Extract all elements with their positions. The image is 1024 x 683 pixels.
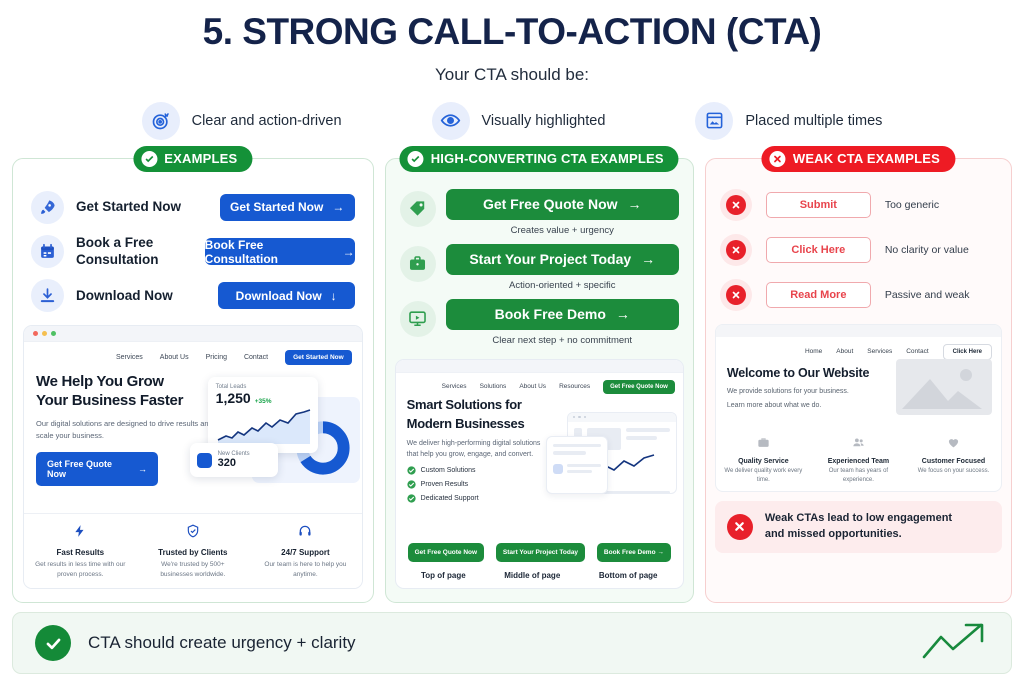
download-icon [31,279,64,312]
trend-up-arrow-icon [921,621,989,666]
briefcase-icon [400,246,436,282]
example-row: Download Now Download Now ↓ [31,279,355,312]
check-circle-icon [407,480,416,489]
shield-check-icon [186,524,200,538]
footer-banner: CTA should create urgency + clarity [12,612,1012,674]
mockup-nav-cta-button[interactable]: Click Here [943,344,992,360]
feature-desc: We're trusted by 500+ businesses worldwi… [137,560,250,580]
monitor-play-icon [400,301,436,337]
feature-title: Quality Service [716,458,811,465]
button-label: Book Free Demo [495,306,606,322]
mockup-nav: Home About Services Contact Click Here [716,337,1001,360]
check-circle-icon [407,466,416,475]
check-circle-icon [408,151,424,167]
nav-item[interactable]: Resources [559,383,590,390]
examples-panel-tag: EXAMPLES [133,146,252,172]
examples-rows: Get Started Now Get Started Now → Book a… [13,159,373,313]
placement-button-top[interactable]: Get Free Quote Now [408,543,484,562]
weak-cta-rows: Submit Too generic Click Here No clarity… [706,159,1011,311]
example-row: Book a Free Consultation Book Free Consu… [31,235,355,269]
tag-icon [400,191,436,227]
example-row: Get Started Now Get Started Now → [31,191,355,224]
check-circle-icon [35,625,71,661]
placeholder-image-icon [896,359,992,415]
check-circle-icon [407,494,416,503]
mockup-heading-line1: We Help You Grow [36,373,221,392]
high-converting-rows: Get Free Quote Now → Creates value + urg… [386,159,693,351]
arrow-right-icon: → [641,251,655,267]
arrow-right-icon: → [343,245,355,259]
placement-button-middle[interactable]: Start Your Project Today [496,543,585,562]
window-close-dot [33,331,38,336]
feature-title: 24/7 Support [249,548,362,557]
mockup-new-clients-card: New Clients 320 [190,443,278,477]
briefcase-gray-icon [757,436,770,449]
cta-caption: Creates value + urgency [446,225,679,236]
mockup-heading-line2: Your Business Faster [36,392,221,411]
mockup-placement-buttons: Get Free Quote Now Start Your Project To… [396,543,683,562]
mockup-feature: Experienced Team Our team has years of e… [811,436,906,486]
button-label: Start Your Project Today [469,251,631,267]
warning-line1: Weak CTAs lead to low engagement [765,511,952,526]
placement-label: Top of page [421,571,466,580]
download-now-button[interactable]: Download Now ↓ [218,282,355,309]
headset-icon [298,524,312,538]
x-circle-icon [720,189,752,221]
button-label: Get Started Now [230,200,323,214]
mockup-feature: Trusted by Clients We're trusted by 500+… [137,524,250,580]
placement-label: Bottom of page [599,571,658,580]
heart-gray-icon [947,436,960,449]
cta-row: Start Your Project Today → Action-orient… [400,244,679,296]
nav-item[interactable]: Pricing [206,354,227,361]
feature-title: Customer Focused [906,458,1001,465]
x-circle-icon [727,514,753,540]
weak-cta-row: Submit Too generic [720,189,997,221]
mockup-feature: Customer Focused We focus on your succes… [906,436,1001,486]
x-circle-icon [770,151,786,167]
cta-caption: Clear next step + no commitment [446,335,679,346]
weak-cta-row: Read More Passive and weak [720,279,997,311]
mockup-feature: 24/7 Support Our team is here to help yo… [249,524,362,580]
mockup-stats-visual: Total Leads 1,250 +35% New C [208,371,358,491]
window-dot [578,416,581,419]
rocket-icon [31,191,64,224]
cta-row: Get Free Quote Now → Creates value + urg… [400,189,679,241]
feature-title: Fast Results [24,548,137,557]
check-circle-icon [141,151,157,167]
feature-title: Trusted by Clients [137,548,250,557]
button-label: Get Free Quote Now [483,196,618,212]
example-label: Book a Free Consultation [76,235,201,269]
mockup-total-leads-card: Total Leads 1,250 +35% [208,377,318,453]
users-gray-icon [852,436,865,449]
mockup-nav-cta-button[interactable]: Get Started Now [285,350,352,365]
attribute-item-placed: Placed multiple times [695,102,882,140]
feature-desc: Our team has years of experience. [811,467,906,486]
placement-button-bottom[interactable]: Book Free Demo → [597,543,671,562]
tag-label: WEAK CTA EXAMPLES [793,151,940,166]
nav-item[interactable]: About [836,348,853,355]
calendar-icon [31,235,64,268]
nav-item[interactable]: Services [116,354,143,361]
nav-item[interactable]: Services [442,383,467,390]
book-free-demo-button[interactable]: Book Free Demo → [446,299,679,330]
cta-caption: Action-oriented + specific [446,280,679,291]
window-dot [573,416,576,419]
nav-item[interactable]: Services [867,348,892,355]
high-converting-panel: HIGH-CONVERTING CTA EXAMPLES Get Free Qu… [385,158,694,603]
nav-item[interactable]: Home [805,348,822,355]
check-label: Custom Solutions [421,467,476,474]
arrow-right-icon: → [616,306,630,322]
arrow-right-icon: → [138,464,147,474]
weak-cta-panel: WEAK CTA EXAMPLES Submit Too generic Cli… [705,158,1012,603]
page-subtitle: Your CTA should be: [0,65,1024,85]
nav-item[interactable]: Contact [244,354,268,361]
x-circle-icon [720,279,752,311]
nav-item[interactable]: Contact [906,348,928,355]
mockup-features: Fast Results Get results in less time wi… [24,513,362,589]
cta-attributes-row: Clear and action-driven Visually highlig… [0,102,1024,140]
mockup-nav: Services Solutions About Us Resources Ge… [396,373,683,394]
weak-cta-note: No clarity or value [885,244,969,256]
read-more-button[interactable]: Read More [766,282,871,308]
mockup-titlebar [396,360,683,373]
mockup-nav-cta-button[interactable]: Get Free Quote Now [603,380,675,394]
cta-row: Book Free Demo → Clear next step + no co… [400,299,679,351]
stat-value: 1,250 [216,390,251,406]
example-label: Get Started Now [76,199,201,216]
attribute-label: Visually highlighted [482,113,606,129]
attribute-item-clear: Clear and action-driven [142,102,342,140]
weak-cta-note: Passive and weak [885,289,970,301]
click-here-button[interactable]: Click Here [766,237,871,263]
mockup-titlebar [716,325,1001,337]
mockup-nav: Services About Us Pricing Contact Get St… [24,342,362,369]
stat-change: +35% [255,398,272,405]
panels-container: EXAMPLES Get Started Now Get Started Now… [0,158,1024,603]
examples-panel: EXAMPLES Get Started Now Get Started Now… [12,158,374,603]
arrow-right-icon: → [332,200,344,214]
website-mockup-converting: Services Solutions About Us Resources Ge… [395,359,684,589]
attribute-label: Placed multiple times [745,113,882,129]
mockup-hero: We Help You Grow Your Business Faster Ou… [24,369,362,486]
high-converting-panel-tag: HIGH-CONVERTING CTA EXAMPLES [400,146,679,172]
get-started-now-button[interactable]: Get Started Now → [220,194,355,221]
tag-label: EXAMPLES [164,151,237,166]
feature-desc: We deliver quality work every time. [716,467,811,486]
check-label: Proven Results [421,481,468,488]
submit-button[interactable]: Submit [766,192,871,218]
book-free-consultation-button[interactable]: Book Free Consultation → [205,238,355,265]
feature-desc: Get results in less time with our proven… [24,560,137,580]
nav-item[interactable]: About Us [519,383,546,390]
weak-cta-warning-box: Weak CTAs lead to low engagement and mis… [715,501,1002,553]
tag-label: HIGH-CONVERTING CTA EXAMPLES [431,151,664,166]
feature-desc: Our team is here to help you anytime. [249,560,362,580]
stat-value: 320 [218,457,250,469]
mockup-dashboard-visual [552,406,677,506]
page-title: 5. STRONG CALL-TO-ACTION (CTA) [0,0,1024,53]
mockup-paragraph: We deliver high-performing digital solut… [396,438,546,460]
eye-icon [432,102,470,140]
user-icon [197,453,212,468]
nav-item[interactable]: Solutions [480,383,507,390]
window-dot [584,416,587,419]
button-label: Book Free Consultation [205,238,334,266]
mockup-placement-labels: Top of page Middle of page Bottom of pag… [396,571,683,580]
button-label: Get Free Quote Now [47,459,130,479]
warning-line2: and missed opportunities. [765,527,952,542]
mockup-titlebar [24,326,362,342]
arrow-right-icon: → [628,196,642,212]
website-mockup-good: Services About Us Pricing Contact Get St… [23,325,363,589]
placement-label: Middle of page [504,571,560,580]
mockup-features: Quality Service We deliver quality work … [716,436,1001,486]
weak-cta-panel-tag: WEAK CTA EXAMPLES [762,146,955,172]
mockup-feature: Fast Results Get results in less time wi… [24,524,137,580]
target-icon [142,102,180,140]
example-label: Download Now [76,288,201,305]
mockup-feature: Quality Service We deliver quality work … [716,436,811,486]
feature-desc: We focus on your success. [906,467,1001,476]
weak-cta-row: Click Here No clarity or value [720,234,997,266]
mockup-paragraph: Our digital solutions are designed to dr… [36,418,221,441]
check-label: Dedicated Support [421,495,479,502]
x-circle-icon [720,234,752,266]
button-label: Download Now [236,289,322,303]
window-minimize-dot [42,331,47,336]
start-your-project-today-button[interactable]: Start Your Project Today → [446,244,679,275]
get-free-quote-now-button[interactable]: Get Free Quote Now → [446,189,679,220]
arrow-down-icon: ↓ [331,289,337,303]
feature-title: Experienced Team [811,458,906,465]
inner-window-titlebar [568,413,676,422]
mockup-floating-card [546,436,608,494]
attribute-item-visual: Visually highlighted [432,102,606,140]
window-maximize-dot [51,331,56,336]
weak-cta-note: Too generic [885,199,939,211]
bolt-icon [73,524,87,538]
attribute-label: Clear and action-driven [192,113,342,129]
layout-image-icon [695,102,733,140]
footer-text: CTA should create urgency + clarity [88,633,356,653]
website-mockup-weak: Home About Services Contact Click Here W… [715,324,1002,492]
nav-item[interactable]: About Us [160,354,189,361]
mockup-cta-button[interactable]: Get Free Quote Now → [36,452,158,486]
